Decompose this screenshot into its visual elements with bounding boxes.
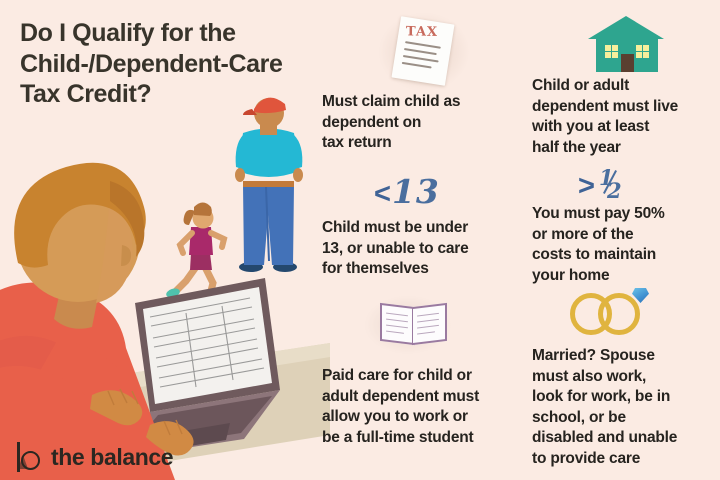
one-half-fraction: 12 bbox=[596, 167, 622, 201]
illustration-scene bbox=[0, 95, 330, 480]
middle-item-2-text: Child must be under 13, or unable to car… bbox=[322, 218, 469, 280]
infographic-canvas: Do I Qualify for the Child-/Dependent-Ca… bbox=[0, 0, 720, 480]
logo-wordmark: the balance bbox=[51, 444, 173, 471]
less-than-thirteen-symbol: <13 bbox=[374, 172, 440, 211]
middle-item-3-text: Paid care for child or adult dependent m… bbox=[322, 366, 479, 448]
standing-adult-figure bbox=[235, 98, 303, 272]
title-line-1: Do I Qualify for the bbox=[20, 18, 320, 49]
tax-document-label: TAX bbox=[406, 24, 438, 40]
tax-document-icon: TAX bbox=[391, 16, 454, 86]
right-item-3-text: Married? Spouse must also work, look for… bbox=[532, 346, 677, 470]
the-balance-logo: the balance bbox=[16, 442, 173, 472]
right-item-1-text: Child or adult dependent must live with … bbox=[532, 76, 678, 158]
open-book-icon bbox=[380, 305, 450, 347]
middle-item-1-text: Must claim child as dependent on tax ret… bbox=[322, 92, 460, 154]
people-and-laptop-illustration bbox=[0, 95, 330, 480]
title-line-2: Child-/Dependent-Care bbox=[20, 49, 320, 80]
right-item-2-text: You must pay 50% or more of the costs to… bbox=[532, 204, 665, 286]
house-icon bbox=[588, 16, 666, 72]
wedding-rings-icon bbox=[570, 288, 666, 338]
balance-scale-icon bbox=[16, 442, 42, 472]
greater-than-half-symbol: >12 bbox=[578, 164, 622, 203]
